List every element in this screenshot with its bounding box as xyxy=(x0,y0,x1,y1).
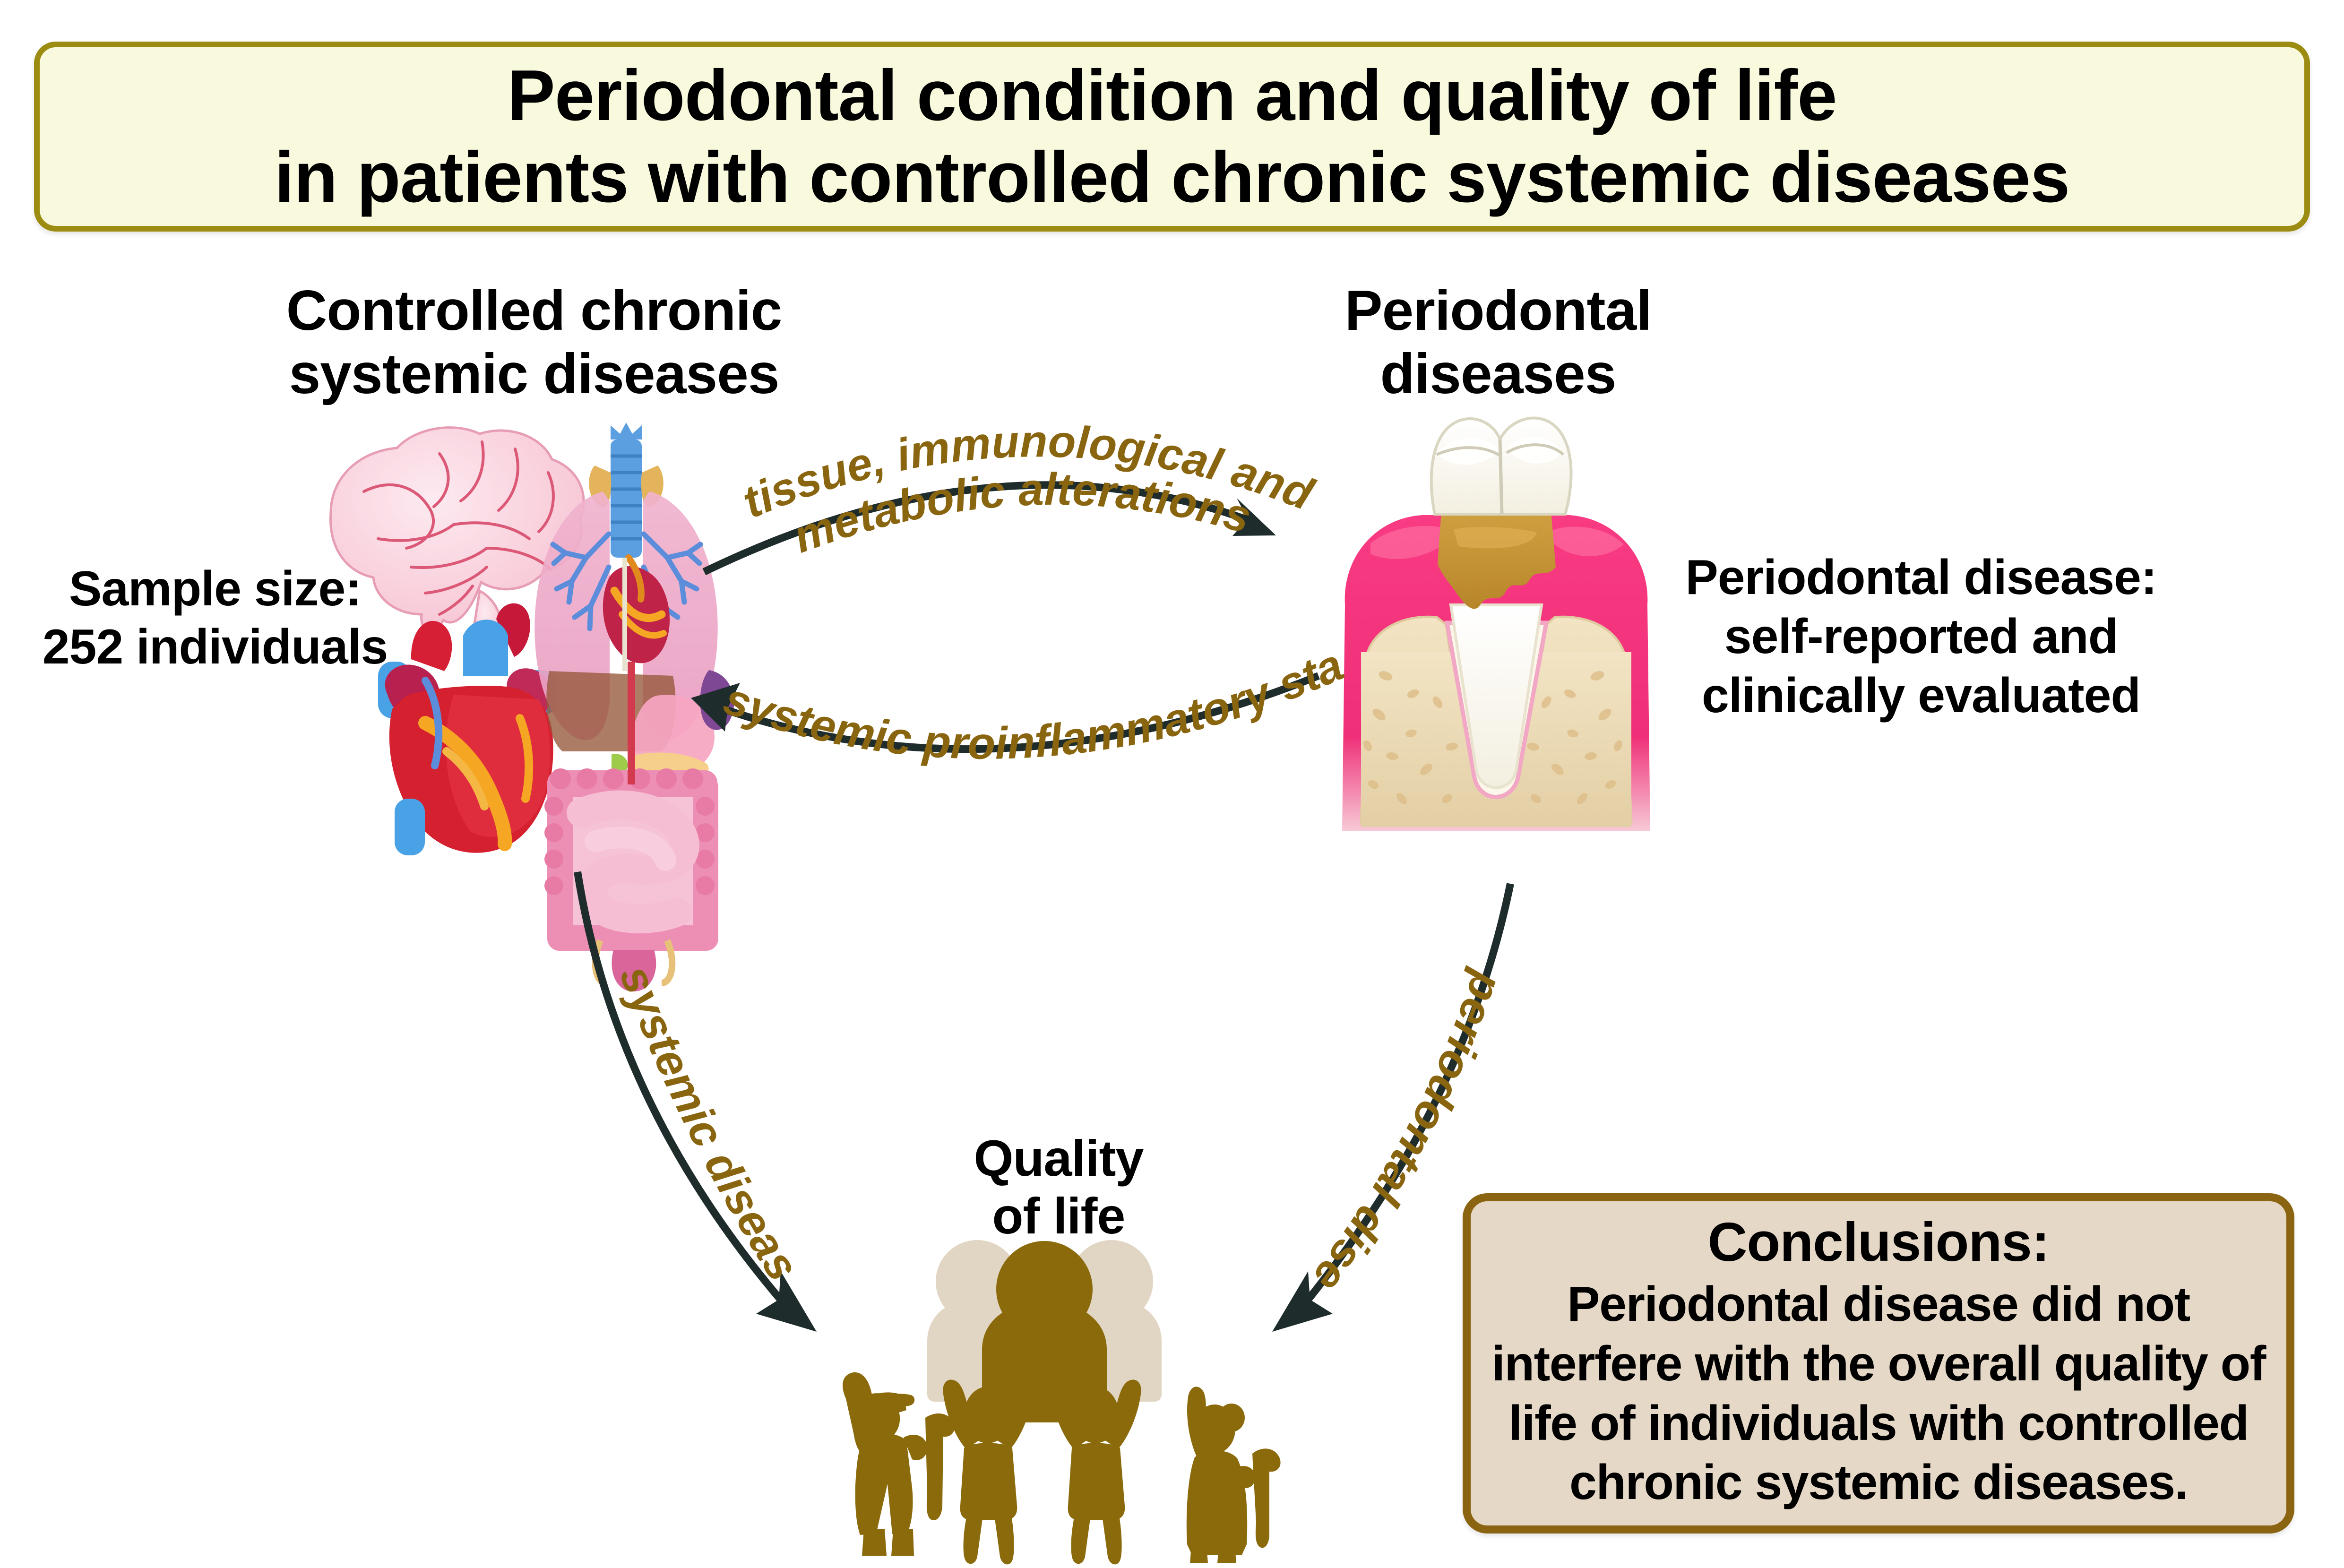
conclusions-body: Periodontal disease did not interfere wi… xyxy=(1487,1275,2270,1513)
heading-periodontal-diseases: Periodontal diseases xyxy=(1262,279,1734,406)
label-sample-size: Sample size: 252 individuals xyxy=(28,560,402,676)
arrow-periodontal-to-systemic xyxy=(691,676,1318,749)
heading-quality-of-life: Quality of life xyxy=(874,1129,1243,1245)
arrow-systemic-to-quality-of-life xyxy=(577,872,817,1332)
heading-controlled-chronic-systemic-diseases: Controlled chronic systemic diseases xyxy=(203,279,865,406)
heart-illustration xyxy=(378,603,557,855)
people-group-icon xyxy=(927,1240,1162,1422)
arrow-label-tissue-immunological: tissue, immunological and xyxy=(735,416,1321,528)
conclusions-box: Conclusions: Periodontal disease did not… xyxy=(1463,1193,2294,1534)
tooth-periodontium-illustration xyxy=(1342,418,1650,831)
conclusions-title: Conclusions: xyxy=(1487,1212,2270,1273)
arrow-label-metabolic-alterations: metabolic alterations xyxy=(787,464,1257,562)
label-periodontal-disease-evaluation: Periodontal disease: self-reported and c… xyxy=(1649,548,2193,725)
internal-organs-illustration xyxy=(534,422,734,991)
graphical-abstract: Periodontal condition and quality of lif… xyxy=(0,0,2344,1568)
arrow-systemic-to-periodontal xyxy=(704,485,1276,572)
dancing-people-icon xyxy=(843,1372,1281,1565)
title-banner: Periodontal condition and quality of lif… xyxy=(34,42,2310,232)
page-title: Periodontal condition and quality of lif… xyxy=(256,55,2089,219)
